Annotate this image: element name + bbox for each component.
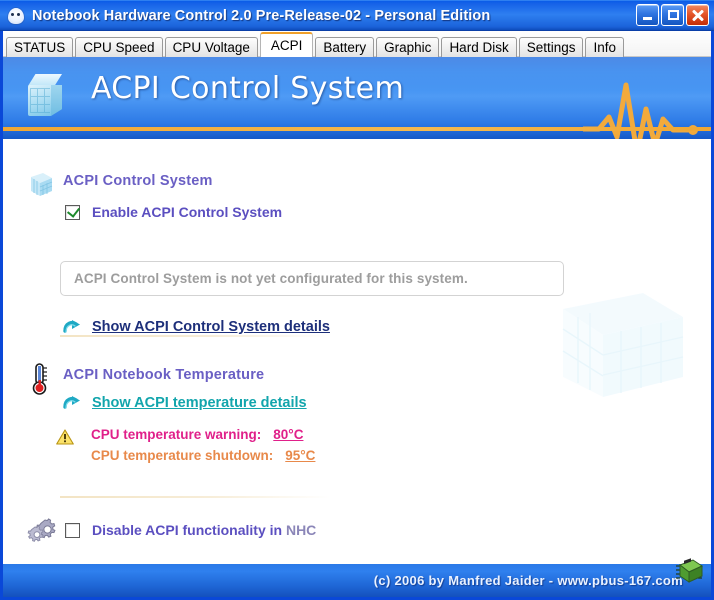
tab-settings[interactable]: Settings xyxy=(519,37,584,57)
copyright-text: (c) 2006 by Manfred Jaider - www.pbus-16… xyxy=(374,573,683,588)
show-acpi-details-row[interactable]: Show ACPI Control System details xyxy=(63,319,330,335)
tab-bar: STATUS CPU Speed CPU Voltage ACPI Batter… xyxy=(3,31,711,57)
ice-cube-icon xyxy=(27,169,55,199)
disable-acpi-label-strong: Disable ACPI functionality in xyxy=(92,522,286,538)
status-bar: (c) 2006 by Manfred Jaider - www.pbus-16… xyxy=(3,564,711,597)
disable-acpi-label: Disable ACPI functionality in NHC xyxy=(92,522,316,538)
tab-cpu-speed[interactable]: CPU Speed xyxy=(75,37,162,57)
window-title: Notebook Hardware Control 2.0 Pre-Releas… xyxy=(32,8,490,24)
ice-cube-icon xyxy=(25,74,65,118)
tab-strip-filler xyxy=(626,36,711,57)
cpu-temp-shutdown-label: CPU temperature shutdown: xyxy=(91,448,273,463)
ice-cube-watermark-icon xyxy=(533,279,693,404)
show-acpi-temperature-details-link[interactable]: Show ACPI temperature details xyxy=(92,395,307,411)
tab-graphic[interactable]: Graphic xyxy=(376,37,439,57)
title-bar[interactable]: Notebook Hardware Control 2.0 Pre-Releas… xyxy=(0,0,714,31)
enable-acpi-label: Enable ACPI Control System xyxy=(92,204,282,220)
disable-acpi-checkbox-row[interactable]: Disable ACPI functionality in NHC xyxy=(65,522,316,538)
section-heading: ACPI Notebook Temperature xyxy=(63,367,264,383)
page-title: ACPI Control System xyxy=(91,71,404,106)
show-acpi-control-system-details-link[interactable]: Show ACPI Control System details xyxy=(92,319,330,335)
window-controls xyxy=(636,4,709,26)
tab-cpu-voltage[interactable]: CPU Voltage xyxy=(165,37,258,57)
cpu-temperature-shutdown-row: CPU temperature shutdown: 95°C xyxy=(91,448,315,463)
enable-acpi-checkbox-row[interactable]: Enable ACPI Control System xyxy=(65,204,282,220)
banner-accent-rule xyxy=(3,127,711,131)
cpu-temp-warning-value[interactable]: 80°C xyxy=(273,427,303,442)
warning-triangle-icon xyxy=(56,429,74,445)
separator-2 xyxy=(60,496,330,498)
cpu-temp-shutdown-value[interactable]: 95°C xyxy=(285,448,315,463)
close-button[interactable] xyxy=(686,4,709,26)
gears-icon xyxy=(27,518,57,544)
ghost-icon xyxy=(7,7,25,25)
tab-battery[interactable]: Battery xyxy=(315,37,374,57)
disable-acpi-label-dim: NHC xyxy=(286,522,316,538)
show-temperature-details-row[interactable]: Show ACPI temperature details xyxy=(63,395,307,411)
tab-content-acpi: ACPI Control System Enable ACPI Control … xyxy=(3,139,711,561)
tab-hard-disk[interactable]: Hard Disk xyxy=(441,37,516,57)
curved-arrow-icon xyxy=(63,319,83,335)
application-window: Notebook Hardware Control 2.0 Pre-Releas… xyxy=(0,0,714,600)
section-heading: ACPI Control System xyxy=(63,173,213,189)
minimize-button[interactable] xyxy=(636,4,659,26)
tab-status[interactable]: STATUS xyxy=(6,37,73,57)
green-chip-icon[interactable] xyxy=(671,557,707,587)
maximize-button[interactable] xyxy=(661,4,684,26)
tab-info[interactable]: Info xyxy=(585,37,624,57)
acpi-status-message: ACPI Control System is not yet configura… xyxy=(74,271,468,286)
curved-arrow-icon xyxy=(63,395,83,411)
tab-acpi[interactable]: ACPI xyxy=(260,32,314,57)
acpi-status-message-box: ACPI Control System is not yet configura… xyxy=(60,261,564,296)
page-banner: ACPI Control System xyxy=(3,57,711,139)
disable-acpi-checkbox[interactable] xyxy=(65,523,80,538)
cpu-temp-warning-label: CPU temperature warning: xyxy=(91,427,261,442)
thermometer-icon xyxy=(29,363,51,397)
separator-1 xyxy=(60,335,330,337)
enable-acpi-checkbox[interactable] xyxy=(65,205,80,220)
cpu-temperature-warning-row: CPU temperature warning: 80°C xyxy=(91,427,303,442)
